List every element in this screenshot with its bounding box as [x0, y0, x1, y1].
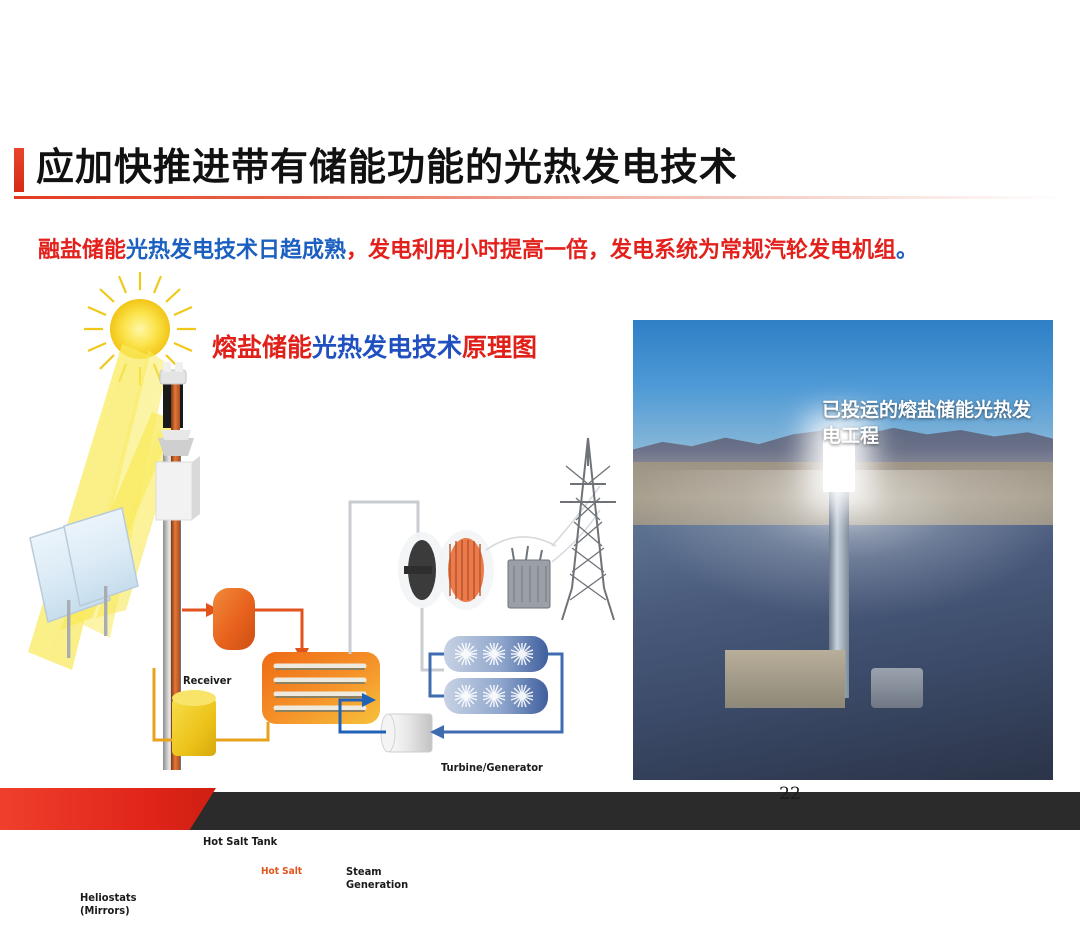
label-steam-generation: Steam Generation [346, 866, 408, 891]
cold-salt-tank [172, 690, 216, 756]
csp-schematic-diagram: Receiver Heliostats (Mirrors) Hot Salt T… [0, 270, 630, 790]
subtitle-segment-3: ，发电利用小时提高一倍，发电系统为常规汽轮发电机组 [346, 238, 896, 263]
subtitle-segment-1: 融盐储能 [38, 238, 126, 263]
title-underline [14, 196, 1064, 199]
label-turbine-generator: Turbine/Generator [441, 762, 543, 775]
steam-generator [262, 652, 380, 724]
label-hot-salt-tank: Hot Salt Tank [203, 836, 277, 849]
slide-root: 应加快推进带有储能功能的光热发电技术 融盐储能光热发电技术日趋成熟，发电利用小时… [0, 0, 1080, 926]
page-title: 应加快推进带有储能功能的光热发电技术 [36, 140, 738, 194]
label-heliostats: Heliostats (Mirrors) [80, 892, 137, 917]
power-lines [486, 486, 600, 562]
subtitle: 融盐储能光热发电技术日趋成熟，发电利用小时提高一倍，发电系统为常规汽轮发电机组。 [38, 232, 918, 264]
label-hot-salt: Hot Salt [261, 866, 302, 878]
transformer [508, 546, 550, 608]
photo-storage-tank [871, 668, 923, 708]
photo-caption: 已投运的熔盐储能光热发电工程 [822, 398, 1037, 449]
air-cooled-condenser [430, 636, 562, 732]
water-pump [381, 714, 432, 752]
hot-salt-tank [213, 588, 255, 650]
subtitle-segment-2: 光热发电技术日趋成熟 [126, 238, 346, 263]
turbine-generator [398, 530, 494, 610]
subtitle-segment-4: 。 [896, 238, 918, 263]
schematic-svg [0, 270, 630, 790]
exhaust-line [422, 608, 444, 670]
title-accent-mark [14, 148, 24, 192]
slide-title-block: 应加快推进带有储能功能的光热发电技术 [0, 140, 1080, 202]
csp-plant-photo [633, 320, 1053, 780]
hot-salt-to-steam [255, 610, 302, 648]
photo-plant-buildings [725, 650, 845, 708]
footer-accent-shape [0, 788, 216, 830]
label-receiver: Receiver [183, 675, 231, 688]
transmission-tower [560, 438, 616, 620]
page-number: 22 [770, 784, 810, 804]
